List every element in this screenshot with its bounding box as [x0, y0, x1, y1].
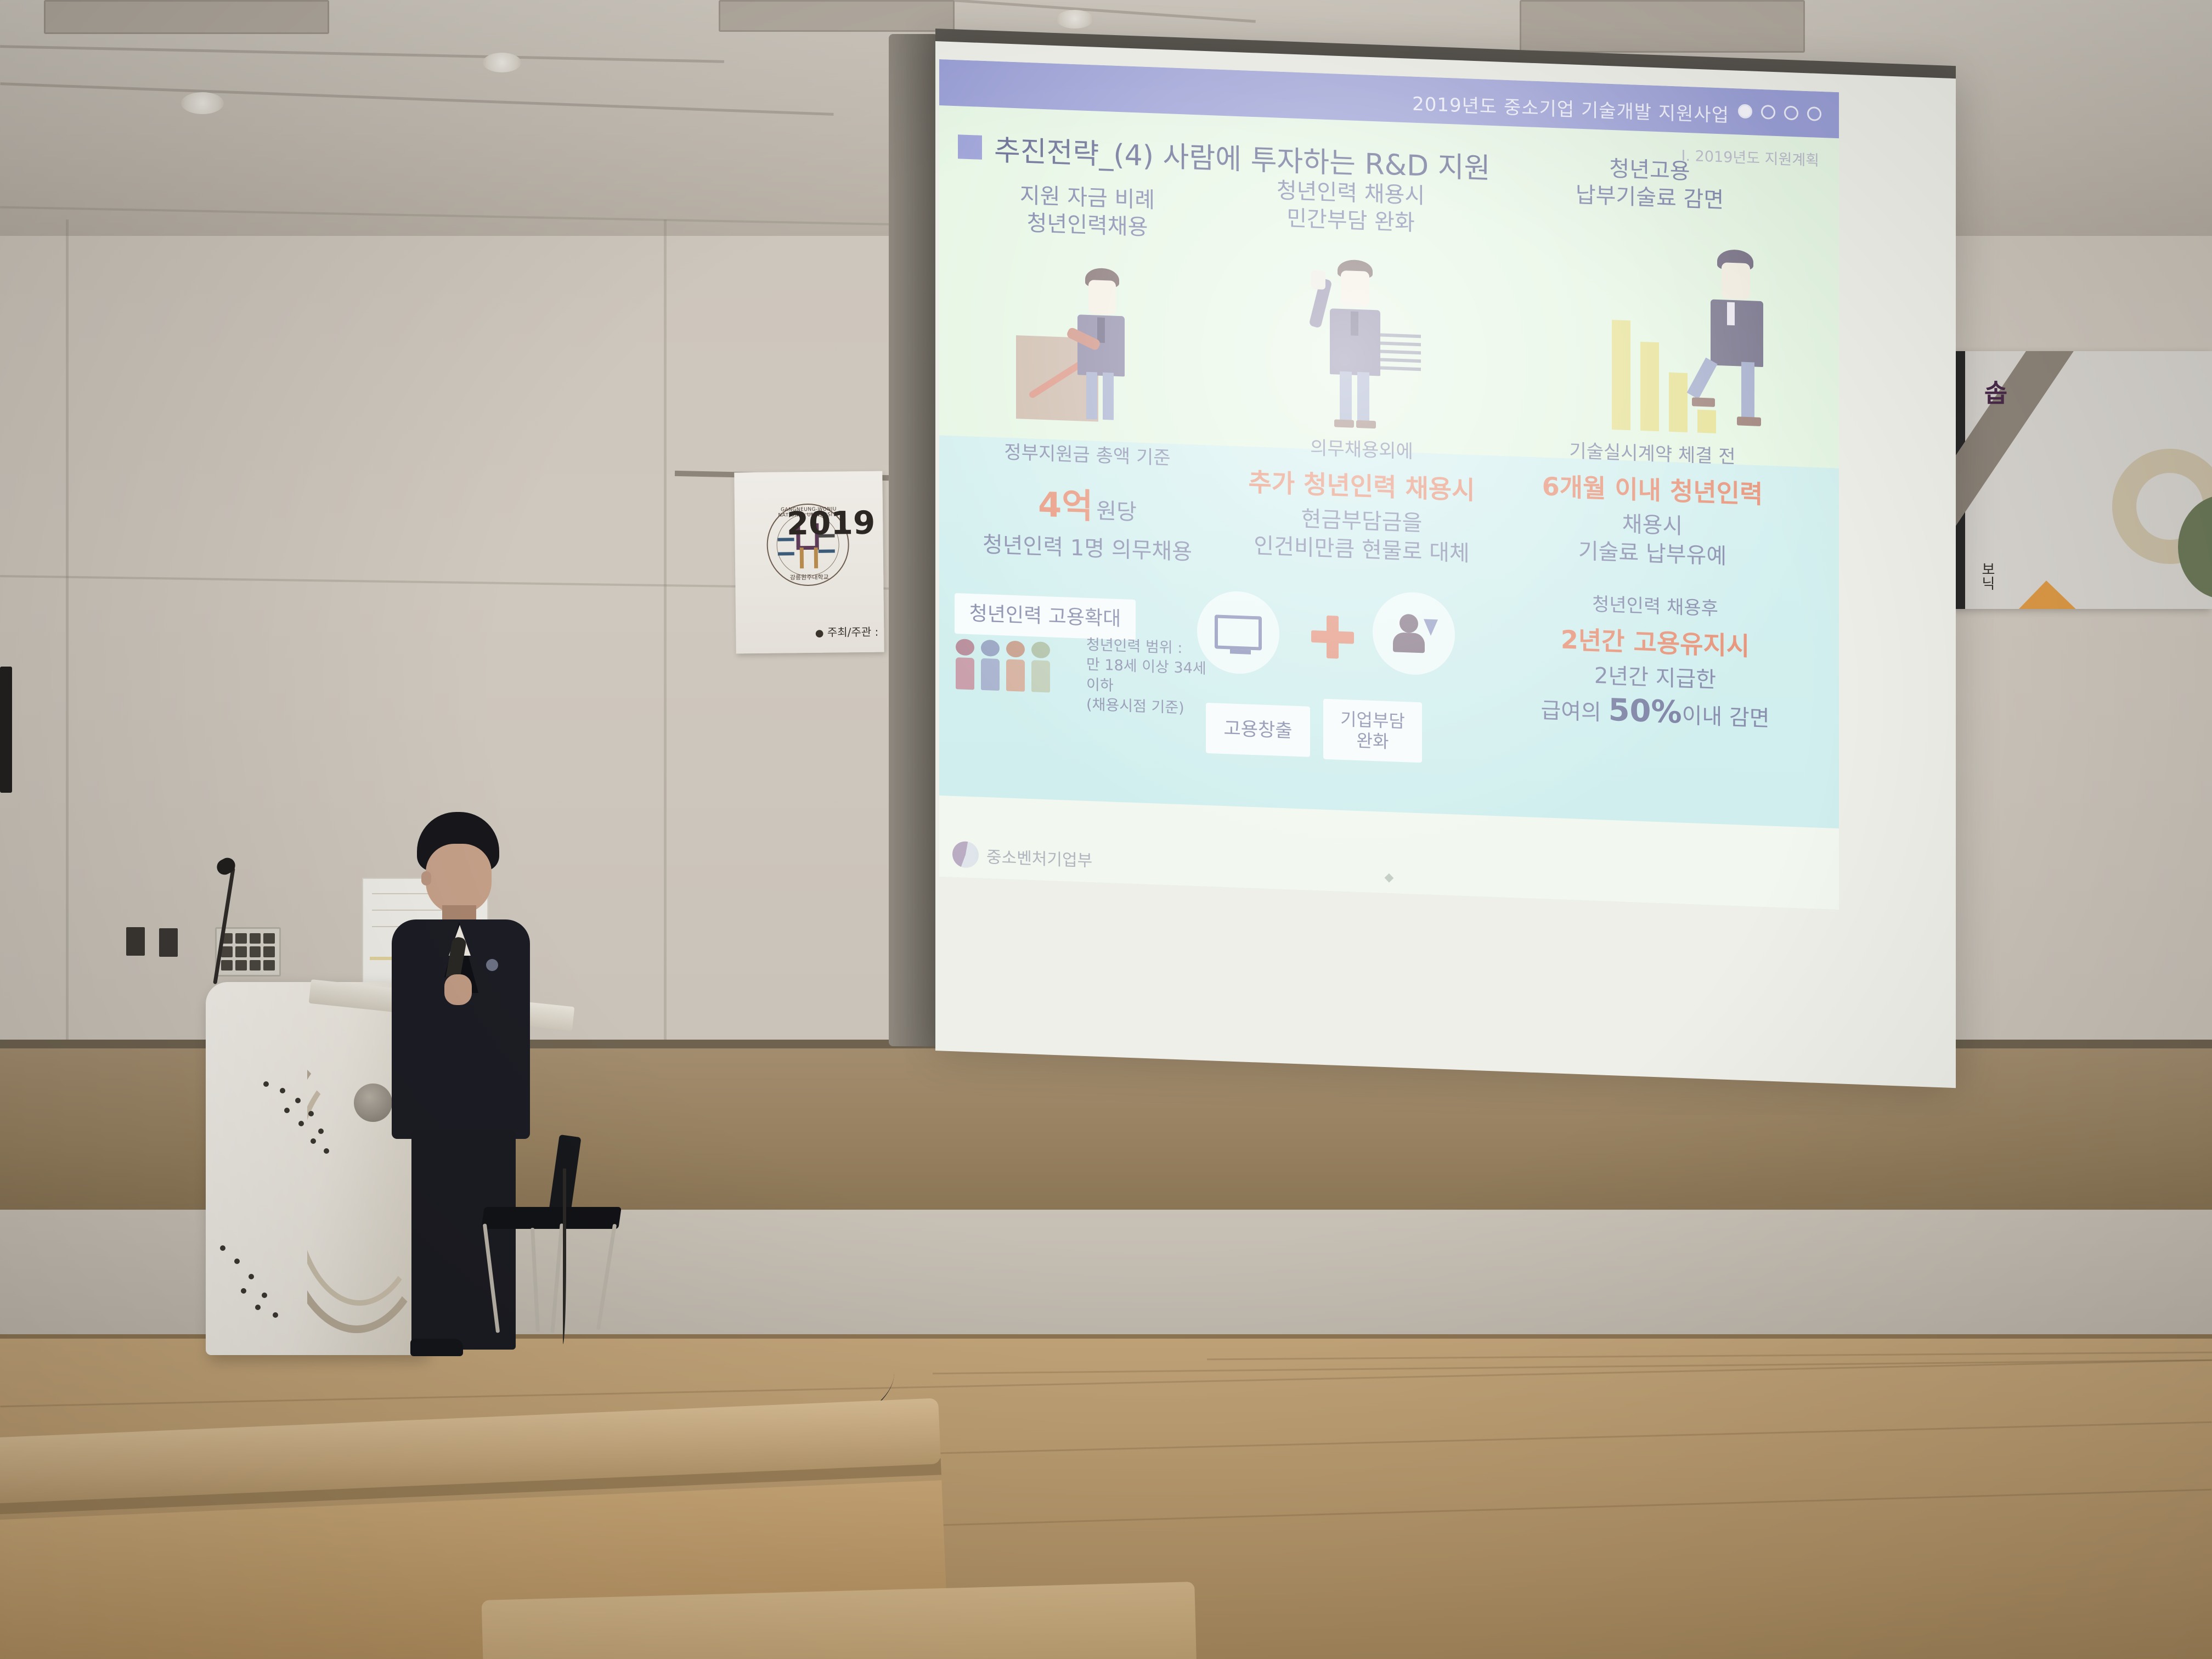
- presenter-hand: [444, 974, 472, 1005]
- retention-highlight: 2년간 고용유지시: [1499, 622, 1812, 665]
- block-1-small-top: 정부지원금 총액 기준: [950, 438, 1224, 473]
- korea-government-taegeuk-emblem-icon: [952, 841, 979, 868]
- column-1-heading: 지원 자금 비례 청년인력채용: [956, 179, 1219, 244]
- retention-percent: 50%: [1609, 692, 1682, 730]
- presenter-shoe: [410, 1339, 463, 1356]
- block-2-highlight: 추가 청년인력 채용시: [1219, 466, 1504, 508]
- title-bullet-square-icon: [958, 134, 982, 160]
- wall-seam: [66, 219, 69, 1042]
- event-banner-left: GANGNEUNG-WONJU NATIONAL UNIVERSITY 강릉원주…: [734, 471, 884, 654]
- ministry-logo: 중소벤처기업부: [952, 841, 1092, 872]
- column-2-heading: 청년인력 채용시 민간부담 완화: [1216, 175, 1485, 240]
- podium-dot-pattern: [217, 1240, 326, 1339]
- wall-seam: [664, 219, 667, 1042]
- page-dot-empty: [1807, 106, 1821, 121]
- folding-chair: [483, 1141, 620, 1333]
- projection-screen-housing: [889, 34, 938, 1046]
- poster-vertical-text: 솝: [1976, 380, 2012, 407]
- slide-page-dots: [1738, 104, 1821, 121]
- seal-text-korean: 강릉원주대학교: [768, 572, 850, 582]
- ceiling-vent: [1520, 0, 1805, 53]
- laptop-analysis-icon: [1215, 614, 1262, 650]
- middle-block-3: 기술실시계약 체결 전 6개월 이내 청년인력 채용시 기술료 납부유예: [1499, 436, 1806, 573]
- projected-slide: 2019년도 중소기업 기술개발 지원사업 I. 2019년도 지원계획 추진전…: [939, 59, 1839, 910]
- youth-scope-note: 청년인력 범위 : 만 18세 이상 34세 이하 (채용시점 기준): [1086, 635, 1206, 720]
- block-1-amount: 4억 원당: [1038, 477, 1137, 530]
- presenter-lapel-badge: [486, 959, 498, 971]
- poster-graphic-stroke: [1953, 351, 2074, 606]
- poster-graphic-stroke: [2019, 580, 2212, 609]
- floor-cable-vertical: [560, 1169, 566, 1344]
- middle-block-2: 의무채용외에 추가 청년인력 채용시 현금부담금을 인건비만큼 현물로 대체: [1219, 433, 1504, 569]
- retention-small-top: 청년인력 채용후: [1499, 589, 1812, 624]
- block-3-highlight: 6개월 이내 청년인력: [1499, 470, 1806, 512]
- retention-prefix: 급여의: [1541, 698, 1608, 726]
- banner-host-label: 주최/주관 :: [827, 625, 879, 639]
- circle-icon-left: [1197, 590, 1279, 675]
- person-cost-down-icon: [1392, 613, 1436, 653]
- wall-switch-single[interactable]: [159, 928, 178, 957]
- ceiling-light: [1056, 10, 1093, 29]
- tag-box-youth-employment: 청년인력 고용확대: [955, 593, 1136, 640]
- banner-year: 2019: [786, 504, 875, 543]
- ceiling-vent: [44, 0, 329, 34]
- block-2-small-top: 의무채용외에: [1219, 433, 1504, 467]
- middle-block-1: 정부지원금 총액 기준 4억 원당 청년인력 1명 의무채용: [950, 438, 1224, 568]
- chip-company-burden-relief: 기업부담 완화: [1323, 699, 1422, 763]
- chair-seat: [481, 1207, 622, 1229]
- banner-host-line: ● 주최/주관 :: [815, 623, 879, 640]
- bullet-icon: ●: [815, 628, 824, 639]
- retention-block: 청년인력 채용후 2년간 고용유지시 2년간 지급한 급여의 50%이내 감면: [1499, 589, 1812, 737]
- wall-speaker: [0, 667, 12, 793]
- column-3-heading: 청년고용 납부기술료 감면: [1496, 151, 1803, 217]
- photo-scene: GANGNEUNG-WONJU NATIONAL UNIVERSITY 강릉원주…: [0, 0, 2212, 1659]
- ceiling-light: [181, 92, 224, 114]
- youth-figures-icon: [956, 639, 1050, 692]
- presenter-face: [426, 844, 492, 914]
- presenter-ear: [421, 871, 431, 885]
- businessman-with-growth-chart-icon: [1016, 265, 1181, 425]
- block-3-small-top: 기술실시계약 체결 전: [1499, 436, 1806, 472]
- poster-right: 솝 보닉: [1953, 351, 2212, 609]
- podium-dot-pattern: [258, 1078, 368, 1171]
- block-1-small-bottom: 청년인력 1명 의무채용: [950, 529, 1224, 568]
- wall-switch-single[interactable]: [126, 927, 145, 956]
- block-1-amount-number: 4억: [1038, 477, 1093, 528]
- ceiling-light: [483, 53, 521, 72]
- retention-suffix: 이내 감면: [1682, 703, 1770, 731]
- ceiling-vent: [719, 0, 955, 32]
- poster-small-text: 보닉: [1977, 562, 1997, 590]
- ministry-logo-label: 중소벤처기업부: [986, 843, 1092, 871]
- page-dot-empty: [1761, 105, 1775, 120]
- block-1-amount-unit: 원당: [1096, 493, 1137, 527]
- slide-footer-mark: ◆: [1385, 871, 1394, 885]
- circle-icon-right: [1373, 591, 1455, 676]
- page-dot-filled: [1738, 104, 1752, 119]
- plus-symbol-icon: [1311, 615, 1354, 659]
- chair-leg: [596, 1224, 617, 1330]
- chair-leg: [531, 1228, 540, 1332]
- light-switch-panel[interactable]: [215, 927, 281, 977]
- chair-leg: [483, 1223, 500, 1333]
- businessman-stepping-down-bars-icon: [1598, 237, 1795, 436]
- businessman-raising-hand-icon: [1296, 253, 1422, 433]
- page-dot-empty: [1784, 105, 1798, 120]
- chip-employment-creation: 고용창출: [1206, 703, 1310, 757]
